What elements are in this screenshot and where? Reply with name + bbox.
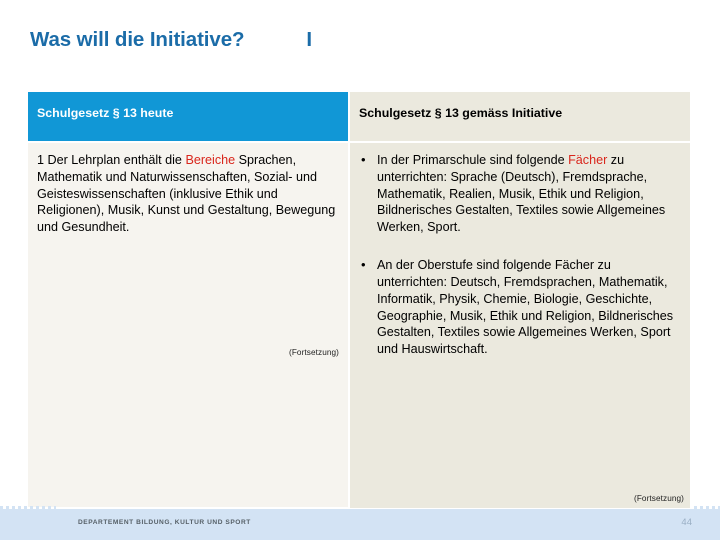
comparison-table: Schulgesetz § 13 heute 1 Der Lehrplan en…	[28, 92, 690, 508]
continuation-note-right: (Fortsetzung)	[634, 494, 684, 505]
page-number: 44	[681, 517, 692, 528]
column-body-initiative: •In der Primarschule sind folgende Fäche…	[350, 143, 690, 508]
list-item: •In der Primarschule sind folgende Fäche…	[359, 152, 682, 236]
paragraph-text-before: 1 Der Lehrplan enthält die	[37, 153, 185, 167]
bullet-highlight-faecher: Fächer	[568, 153, 607, 167]
table-column-initiative: Schulgesetz § 13 gemäss Initiative •In d…	[350, 92, 690, 508]
column-header-current-law: Schulgesetz § 13 heute	[28, 92, 348, 141]
initiative-bullet-list: •In der Primarschule sind folgende Fäche…	[359, 152, 682, 358]
column-header-initiative: Schulgesetz § 13 gemäss Initiative	[350, 92, 690, 141]
table-column-current-law: Schulgesetz § 13 heute 1 Der Lehrplan en…	[28, 92, 348, 508]
continuation-note-left: (Fortsetzung)	[289, 348, 339, 359]
bullet-icon: •	[361, 151, 366, 168]
title-roman-marker: I	[306, 28, 312, 52]
footer-notch-left-decoration	[0, 506, 56, 510]
footer-notch-right-decoration	[694, 506, 720, 510]
bullet-icon: •	[361, 256, 366, 273]
list-item: •An der Oberstufe sind folgende Fächer z…	[359, 257, 682, 358]
paragraph-highlight-bereiche: Bereiche	[185, 153, 235, 167]
footer-band: DEPARTEMENT BILDUNG, KULTUR UND SPORT 44	[0, 509, 720, 540]
current-law-paragraph: 1 Der Lehrplan enthält die Bereiche Spra…	[37, 152, 340, 236]
slide-title: Was will die Initiative? I	[30, 28, 690, 62]
column-body-current-law: 1 Der Lehrplan enthält die Bereiche Spra…	[28, 143, 348, 507]
bullet-text-before: In der Primarschule sind folgende	[377, 153, 568, 167]
footer-department-label: DEPARTEMENT BILDUNG, KULTUR UND SPORT	[78, 519, 251, 526]
page-title: Was will die Initiative?	[30, 28, 244, 52]
bullet-text-before: An der Oberstufe sind folgende Fächer zu…	[377, 258, 673, 356]
